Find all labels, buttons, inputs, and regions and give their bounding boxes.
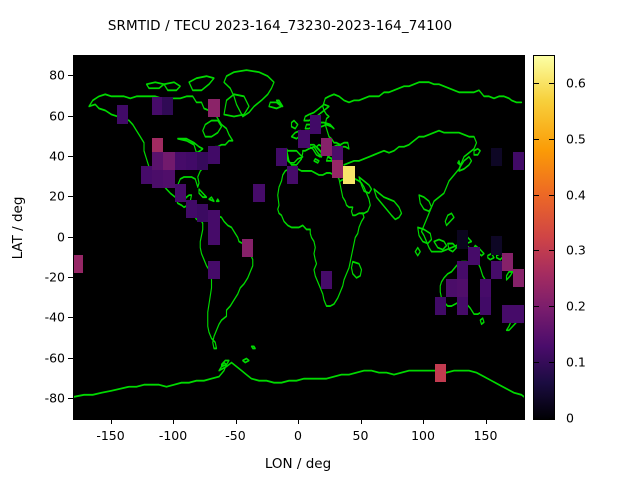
x-tick-mark [111, 419, 112, 424]
y-tick-mark [68, 317, 73, 318]
data-cell [208, 146, 219, 164]
colorbar-tick-mark [534, 195, 539, 196]
data-cell [186, 152, 197, 170]
data-cell [298, 130, 309, 148]
data-cell [117, 105, 128, 123]
colorbar-tick-label: 0.2 [566, 299, 586, 314]
y-tick-label: -20 [25, 269, 65, 284]
y-tick-mark [68, 116, 73, 117]
y-tick-label: 60 [25, 108, 65, 123]
colorbar-tick-label: 0.5 [566, 131, 586, 146]
data-cell [276, 148, 287, 166]
x-tick-mark [423, 419, 424, 424]
data-cell [152, 170, 163, 188]
x-tick-mark [173, 419, 174, 424]
data-cell [208, 99, 219, 117]
data-cell [343, 166, 354, 184]
y-tick-mark [68, 398, 73, 399]
colorbar-tick-label: 0.6 [566, 75, 586, 90]
colorbar-gradient [534, 56, 554, 419]
colorbar-tick-mark [549, 362, 554, 363]
x-tick-mark [486, 419, 487, 424]
colorbar-tick-mark [549, 306, 554, 307]
y-tick-mark [68, 156, 73, 157]
colorbar-tick-mark [549, 195, 554, 196]
data-cell [197, 204, 208, 222]
data-cell [310, 115, 321, 133]
x-tick-label: -50 [225, 428, 245, 443]
x-tick-mark [361, 419, 362, 424]
colorbar-tick-mark [549, 418, 554, 419]
y-tick-mark [68, 75, 73, 76]
data-cell [321, 138, 332, 156]
map-inner [74, 56, 524, 419]
x-tick-label: 50 [353, 428, 369, 443]
colorbar-tick-mark [534, 139, 539, 140]
data-cell [163, 152, 174, 170]
data-cell [457, 230, 468, 248]
data-cell [457, 261, 468, 279]
data-cell [480, 297, 491, 315]
x-tick-label: 150 [474, 428, 498, 443]
y-tick-mark [68, 196, 73, 197]
data-cell [502, 305, 513, 323]
y-tick-mark [68, 358, 73, 359]
data-cell [491, 236, 502, 254]
data-cell [502, 253, 513, 271]
colorbar-tick-mark [549, 139, 554, 140]
data-cell [513, 305, 524, 323]
colorbar-tick-mark [534, 306, 539, 307]
colorbar [533, 55, 555, 420]
data-cell [152, 152, 163, 170]
y-tick-label: 20 [25, 189, 65, 204]
y-tick-label: -40 [25, 310, 65, 325]
data-cell [491, 148, 502, 166]
data-cell [435, 297, 446, 315]
y-axis-label: LAT / deg [10, 148, 26, 308]
y-tick-mark [68, 237, 73, 238]
colorbar-tick-label: 0.3 [566, 243, 586, 258]
data-cell [73, 255, 83, 273]
y-tick-label: 80 [25, 68, 65, 83]
x-tick-label: -150 [96, 428, 124, 443]
data-cell [197, 152, 208, 170]
data-cell [175, 184, 186, 202]
data-cell [162, 97, 173, 115]
data-cell [208, 261, 219, 279]
data-cell [321, 271, 332, 289]
data-cell [208, 226, 219, 244]
colorbar-tick-mark [534, 250, 539, 251]
y-tick-mark [68, 277, 73, 278]
data-cell [480, 279, 491, 297]
x-tick-label: 0 [294, 428, 302, 443]
data-cell [175, 152, 186, 170]
x-tick-label: -100 [159, 428, 187, 443]
colorbar-tick-mark [549, 250, 554, 251]
colorbar-tick-mark [534, 83, 539, 84]
data-cell [163, 170, 174, 188]
colorbar-tick-label: 0.4 [566, 187, 586, 202]
data-cell [242, 239, 253, 257]
data-cell [141, 166, 152, 184]
x-tick-label: 100 [411, 428, 435, 443]
x-axis-label: LON / deg [73, 456, 523, 472]
map-plot-area [73, 55, 525, 420]
colorbar-tick-mark [549, 83, 554, 84]
data-cell [446, 279, 457, 297]
y-tick-label: 40 [25, 148, 65, 163]
colorbar-tick-label: 0 [566, 411, 574, 426]
data-cell [513, 152, 524, 170]
colorbar-tick-label: 0.1 [566, 355, 586, 370]
y-tick-label: -60 [25, 350, 65, 365]
colorbar-tick-mark [534, 362, 539, 363]
y-tick-label: -80 [25, 390, 65, 405]
y-tick-label: 0 [25, 229, 65, 244]
data-cell [186, 200, 197, 218]
data-cell [457, 279, 468, 297]
srmtid-global-map-figure: SRMTID / TECU 2023-164_73230-2023-164_74… [0, 0, 640, 480]
data-cell-layer [74, 56, 524, 419]
data-cell [457, 297, 468, 315]
data-cell [435, 364, 446, 382]
colorbar-tick-mark [534, 418, 539, 419]
data-cell [513, 269, 524, 287]
x-tick-mark [298, 419, 299, 424]
data-cell [287, 166, 298, 184]
x-tick-mark [236, 419, 237, 424]
data-cell [253, 184, 264, 202]
data-cell [332, 160, 343, 178]
data-cell [491, 261, 502, 279]
page-title: SRMTID / TECU 2023-164_73230-2023-164_74… [0, 18, 560, 34]
data-cell [468, 247, 479, 265]
